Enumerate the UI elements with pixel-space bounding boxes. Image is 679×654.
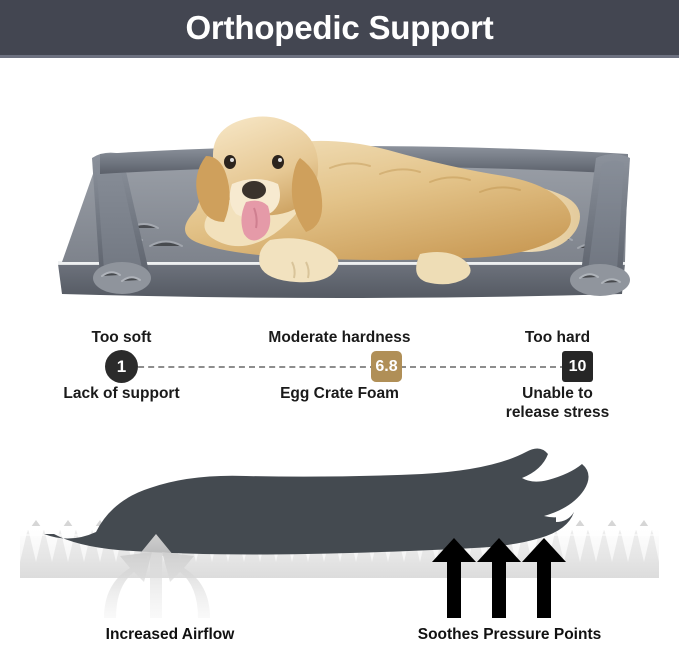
pressure-arrows: [432, 538, 566, 618]
scale-sublabel-lack-of-support: Lack of support: [0, 384, 243, 423]
scale-label-moderate: Moderate hardness: [243, 328, 436, 347]
page-title: Orthopedic Support: [185, 11, 493, 44]
hardness-scale: Too soft Moderate hardness Too hard 1 6.…: [0, 328, 679, 428]
scale-marker-1: 1: [105, 350, 138, 383]
scale-marker-6-8: 6.8: [371, 351, 402, 382]
scale-track: 1 6.8 10: [0, 350, 679, 384]
scale-marker-10: 10: [562, 351, 593, 382]
header-banner: Orthopedic Support: [0, 0, 679, 55]
scale-label-too-hard: Too hard: [436, 328, 679, 347]
foam-diagram: [0, 430, 679, 620]
product-photo: [0, 62, 679, 307]
scale-label-too-soft: Too soft: [0, 328, 243, 347]
scale-top-label-row: Too soft Moderate hardness Too hard: [0, 328, 679, 347]
scale-connector-right: [400, 366, 566, 368]
scale-bottom-label-row: Lack of support Egg Crate Foam Unable to…: [0, 384, 679, 423]
scale-sublabel-egg-crate-foam: Egg Crate Foam: [243, 384, 436, 423]
caption-increased-airflow: Increased Airflow: [0, 626, 340, 643]
foam-diagram-illustration: [0, 430, 679, 620]
scale-connector-left: [128, 366, 376, 368]
product-photo-illustration: [0, 62, 679, 307]
header-divider: [0, 55, 679, 58]
scale-sublabel-unable-to-release-stress: Unable to release stress: [436, 384, 679, 423]
infographic-page: Orthopedic Support: [0, 0, 679, 654]
foam-caption-row: Increased Airflow Soothes Pressure Point…: [0, 626, 679, 643]
caption-soothes-pressure-points: Soothes Pressure Points: [340, 626, 679, 643]
